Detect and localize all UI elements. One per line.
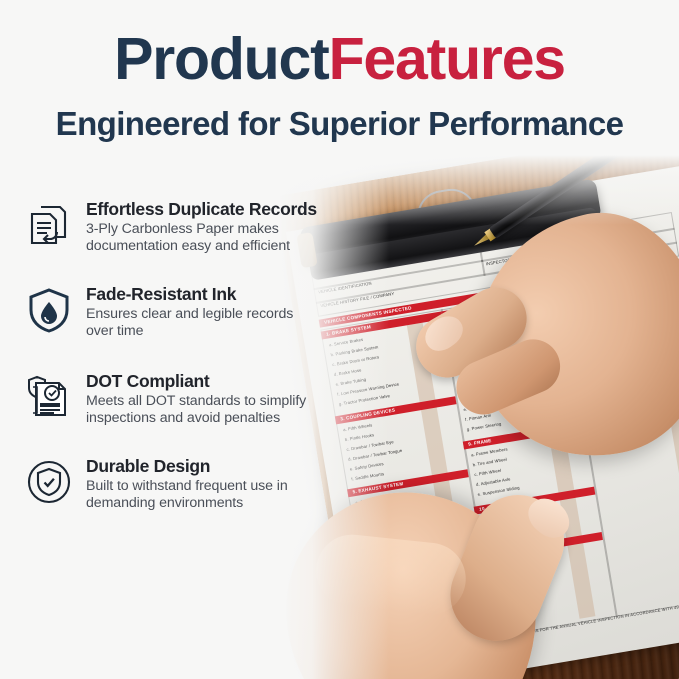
feature-desc-line2: demanding environments	[86, 495, 288, 512]
shield-document-check-icon	[20, 368, 78, 426]
page-title: ProductFeatures	[0, 0, 679, 91]
title-part-features: Features	[329, 26, 565, 92]
feature-item-duplicate-records: Effortless Duplicate Records 3-Ply Carbo…	[20, 196, 350, 255]
feature-item-dot-compliant: DOT Compliant Meets all DOT standards to…	[20, 368, 350, 427]
feature-description: 3-Ply Carbonless Paper makes documentati…	[86, 221, 317, 255]
infographic-page: ProductFeatures Engineered for Superior …	[0, 0, 679, 679]
feature-item-fade-resistant-ink: Fade-Resistant Ink Ensures clear and leg…	[20, 281, 350, 340]
feature-text: Durable Design Built to withstand freque…	[86, 453, 288, 512]
feature-description: Built to withstand frequent use in deman…	[86, 478, 288, 512]
feature-list: Effortless Duplicate Records 3-Ply Carbo…	[20, 196, 350, 532]
feature-description: Ensures clear and legible records over t…	[86, 306, 293, 340]
feature-text: Effortless Duplicate Records 3-Ply Carbo…	[86, 196, 317, 255]
feature-text: Fade-Resistant Ink Ensures clear and leg…	[86, 281, 293, 340]
feature-desc-line1: Meets all DOT standards to simplify	[86, 393, 306, 410]
feature-text: DOT Compliant Meets all DOT standards to…	[86, 368, 306, 427]
title-part-product: Product	[114, 26, 329, 92]
feature-desc-line2: inspections and avoid penalties	[86, 410, 306, 427]
duplicate-documents-icon	[20, 196, 78, 254]
feature-title: DOT Compliant	[86, 371, 306, 392]
feature-desc-line1: Ensures clear and legible records	[86, 306, 293, 323]
feature-desc-line2: over time	[86, 323, 293, 340]
feature-title: Fade-Resistant Ink	[86, 284, 293, 305]
feature-description: Meets all DOT standards to simplify insp…	[86, 393, 306, 427]
header: ProductFeatures Engineered for Superior …	[0, 0, 679, 143]
feature-title: Effortless Duplicate Records	[86, 199, 317, 220]
left-hand-highlight	[313, 531, 470, 618]
feature-desc-line2: documentation easy and efficient	[86, 238, 317, 255]
page-subtitle: Engineered for Superior Performance	[0, 91, 679, 143]
feature-item-durable-design: Durable Design Built to withstand freque…	[20, 453, 350, 512]
feature-title: Durable Design	[86, 456, 288, 477]
feature-desc-line1: 3-Ply Carbonless Paper makes	[86, 221, 317, 238]
shield-water-drop-icon	[20, 281, 78, 339]
shield-check-circle-icon	[20, 453, 78, 511]
feature-desc-line1: Built to withstand frequent use in	[86, 478, 288, 495]
